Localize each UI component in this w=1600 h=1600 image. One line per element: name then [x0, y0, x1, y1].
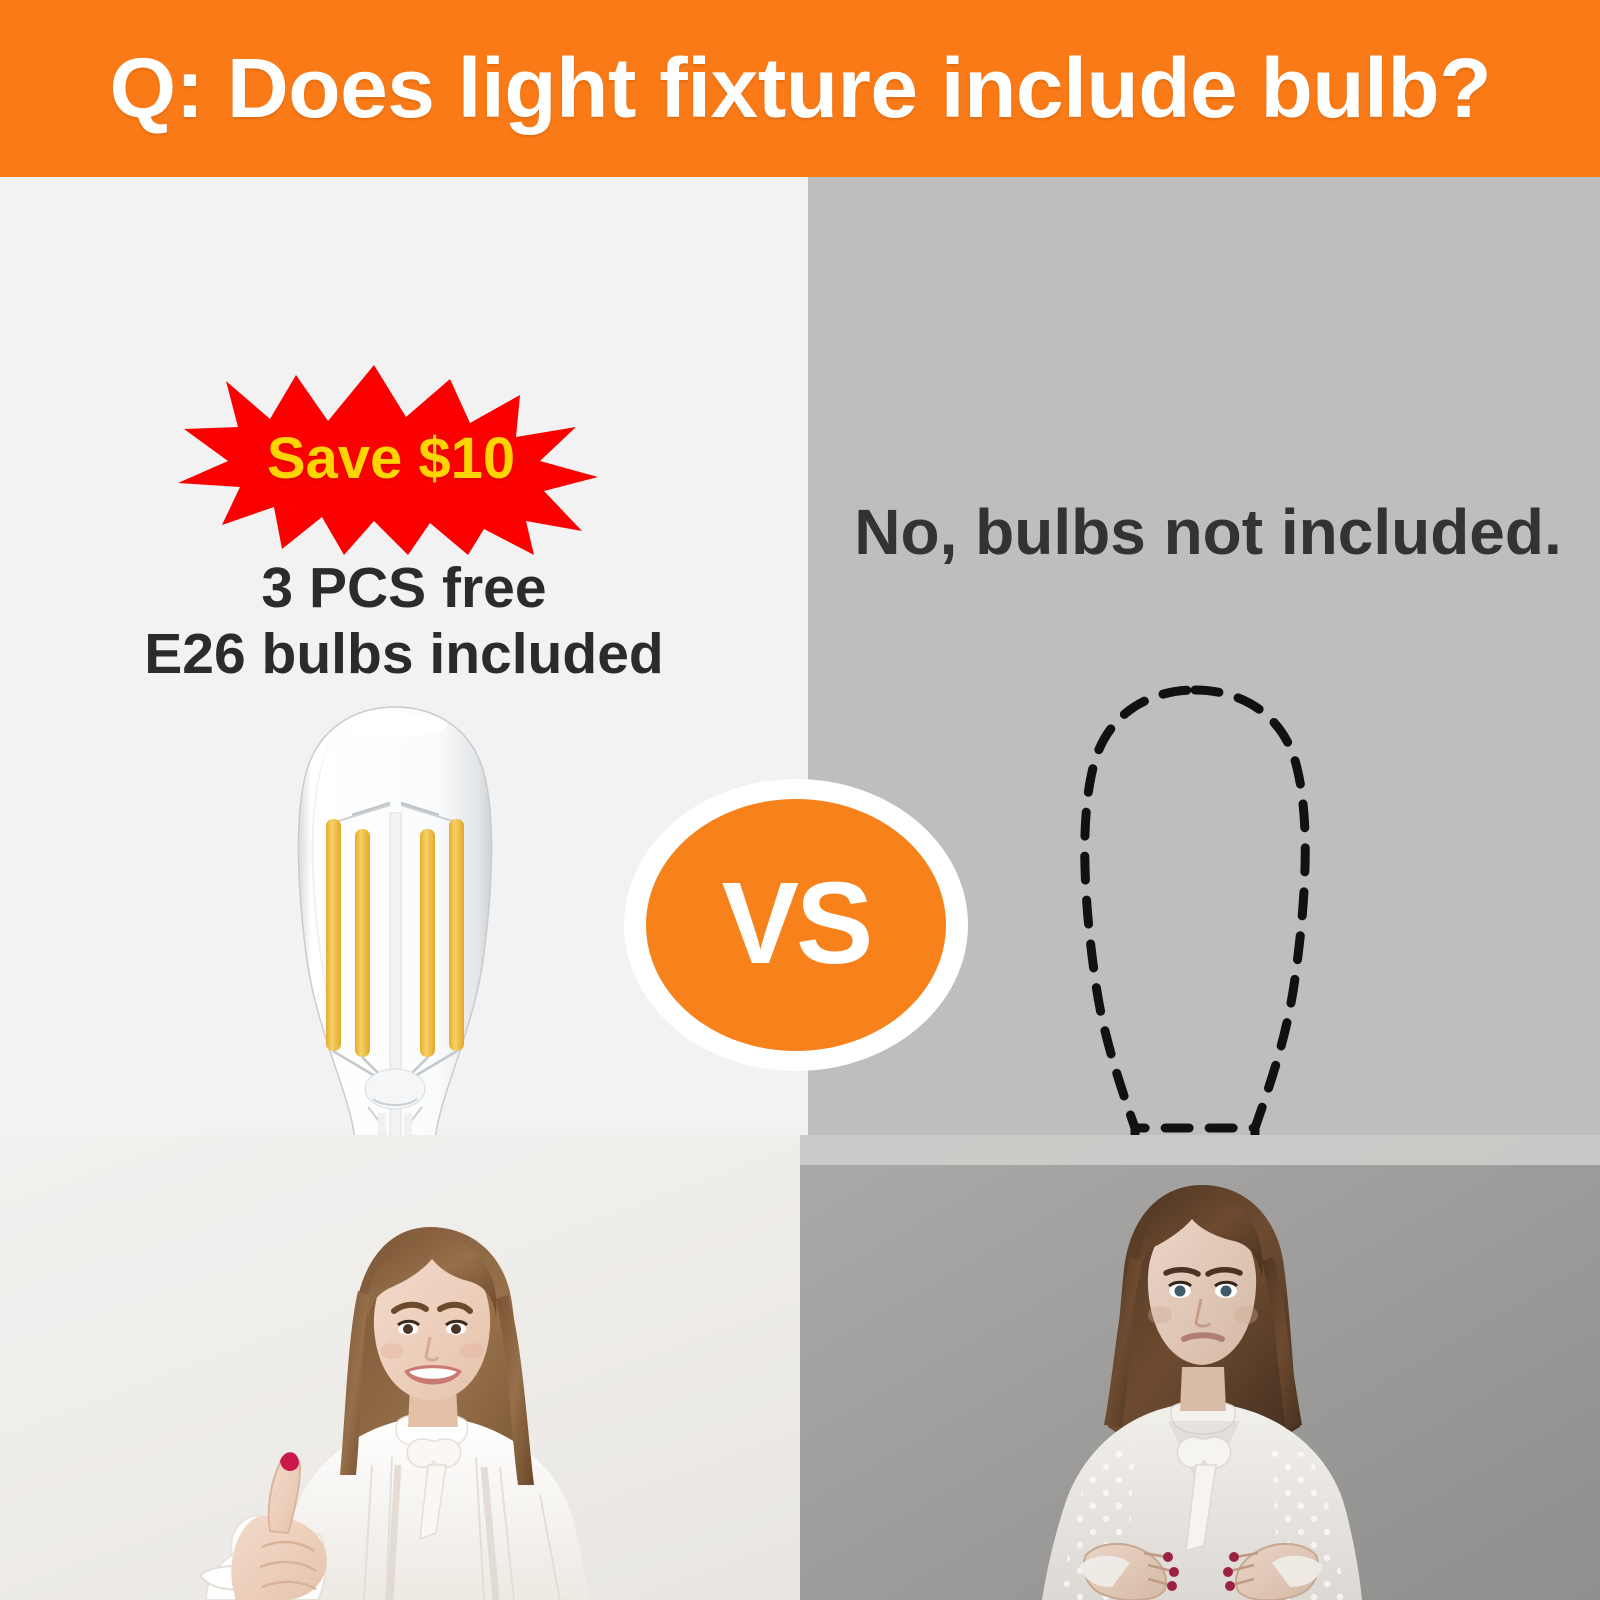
faq-comparison-graphic: Q: Does light fixture include bulb? Save… [0, 0, 1600, 1600]
comparison-band: Save $10 3 PCS free E26 bulbs included N… [0, 177, 1600, 1135]
disappointed-woman-image [800, 1135, 1600, 1600]
page-title: Q: Does light fixture include bulb? [109, 40, 1491, 137]
save-badge: Save $10 [178, 365, 598, 555]
disappointed-customer-photo [800, 1135, 1600, 1600]
versus-badge: VS [622, 777, 970, 1073]
left-caption-line1: 3 PCS free [60, 555, 748, 621]
happy-woman-image [0, 1135, 800, 1600]
versus-label: VS [622, 777, 970, 1073]
happy-customer-photo [0, 1135, 800, 1600]
left-caption: 3 PCS free E26 bulbs included [60, 555, 748, 687]
photo-band [0, 1135, 1600, 1600]
save-badge-label: Save $10 [178, 365, 598, 555]
left-caption-line2: E26 bulbs included [60, 621, 748, 687]
right-caption: No, bulbs not included. [828, 495, 1588, 569]
header-banner: Q: Does light fixture include bulb? [0, 0, 1600, 177]
